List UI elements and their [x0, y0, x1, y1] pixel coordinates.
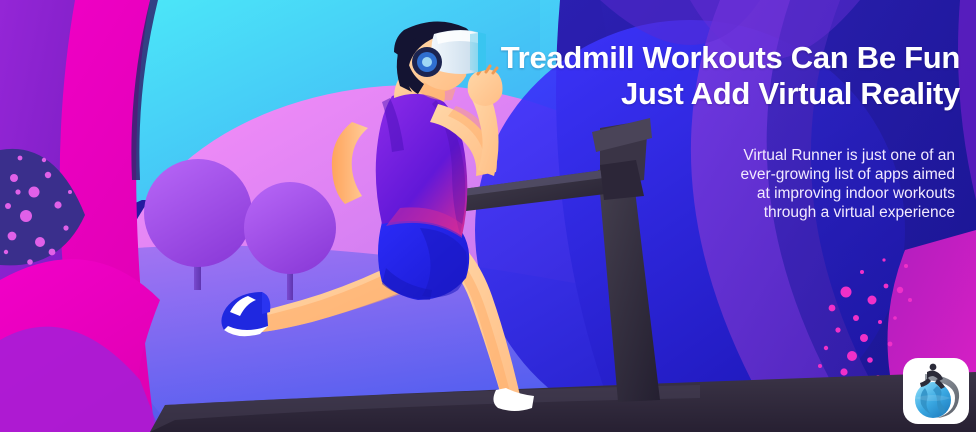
- headline: Treadmill Workouts Can Be Fun Just Add V…: [460, 40, 960, 112]
- body-line-3: at improving indoor workouts: [640, 184, 955, 203]
- globe-icon: [915, 382, 951, 418]
- headline-line-2: Just Add Virtual Reality: [460, 76, 960, 112]
- body-line-4: through a virtual experience: [640, 203, 955, 222]
- treadmill-deck: [150, 372, 976, 432]
- body-copy: Virtual Runner is just one of an ever-gr…: [640, 146, 955, 222]
- rear-shoe: [221, 292, 270, 336]
- vr-treadmill-hero-banner: Treadmill Workouts Can Be Fun Just Add V…: [0, 0, 976, 432]
- body-line-2: ever-growing list of apps aimed: [640, 165, 955, 184]
- body-line-1: Virtual Runner is just one of an: [640, 146, 955, 165]
- headline-line-1: Treadmill Workouts Can Be Fun: [501, 40, 960, 75]
- virtual-runner-app-icon[interactable]: [903, 358, 969, 424]
